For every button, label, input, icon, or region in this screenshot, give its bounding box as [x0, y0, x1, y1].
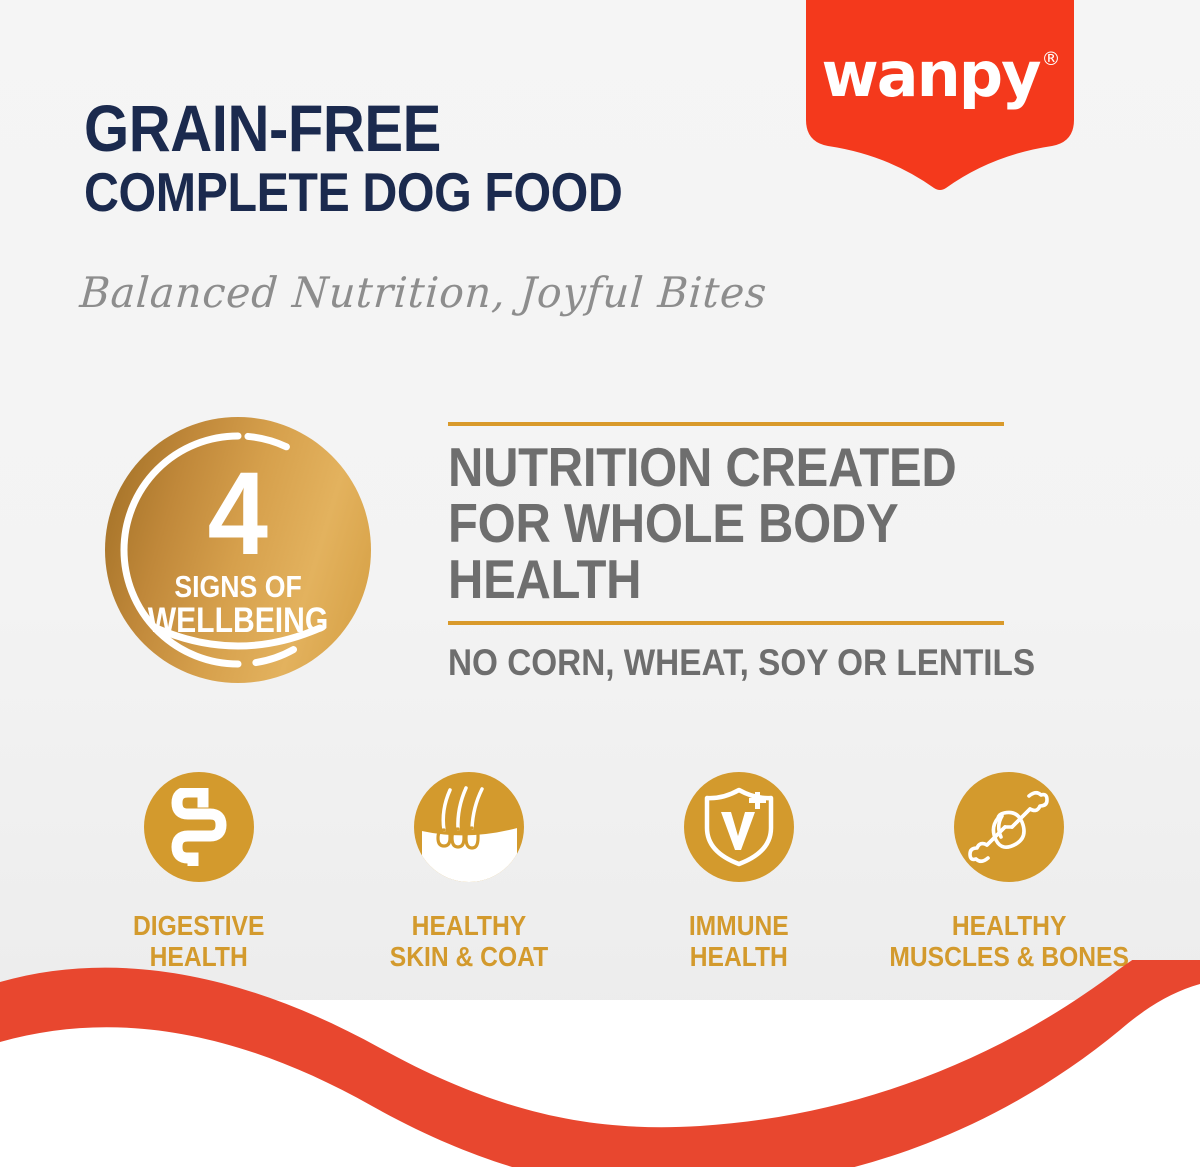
- benefit-item-muscles-bones: HEALTHY MUSCLES & BONES: [874, 772, 1144, 973]
- headline-line-1: GRAIN-FREE: [84, 98, 700, 159]
- benefit-label-line1: HEALTHY: [412, 910, 527, 941]
- tagline: Balanced Nutrition, Joyful Bites: [78, 268, 768, 317]
- headline-block: GRAIN-FREE COMPLETE DOG FOOD: [84, 98, 784, 219]
- wave-icon: [0, 960, 1200, 1167]
- brand-banner: wanpy®: [806, 0, 1074, 190]
- benefits-row: DIGESTIVE HEALTH HEALTHY SKIN &: [64, 772, 1144, 973]
- benefit-label-line1: IMMUNE: [689, 910, 789, 941]
- wellbeing-seal-badge: 4 SIGNS OF WELLBEING: [104, 416, 372, 684]
- headline-line-2: COMPLETE DOG FOOD: [84, 167, 700, 218]
- hair-follicle-icon: [414, 772, 524, 882]
- bone-muscle-icon: [954, 772, 1064, 882]
- shield-v-plus-icon: [684, 772, 794, 882]
- nutrition-statement-block: NUTRITION CREATED FOR WHOLE BODY HEALTH …: [448, 422, 1004, 684]
- benefit-label-line1: HEALTHY: [952, 910, 1067, 941]
- benefit-item-immune: IMMUNE HEALTH: [604, 772, 874, 973]
- rule-top: [448, 422, 1004, 426]
- benefit-item-digestive: DIGESTIVE HEALTH: [64, 772, 334, 973]
- seal-graphic-icon: [104, 416, 372, 684]
- statement-heading: NUTRITION CREATED FOR WHOLE BODY HEALTH: [448, 439, 1002, 607]
- statement-subheading: NO CORN, WHEAT, SOY OR LENTILS: [448, 642, 1008, 684]
- benefit-item-skin-coat: HEALTHY SKIN & COAT: [334, 772, 604, 973]
- product-infographic-poster: wanpy® GRAIN-FREE COMPLETE DOG FOOD Bala…: [0, 0, 1200, 1167]
- intestine-icon: [144, 772, 254, 882]
- rule-bottom: [448, 621, 1004, 625]
- decorative-wave: [0, 960, 1200, 1167]
- benefit-label-line1: DIGESTIVE: [133, 910, 264, 941]
- banner-shape-icon: [806, 0, 1074, 190]
